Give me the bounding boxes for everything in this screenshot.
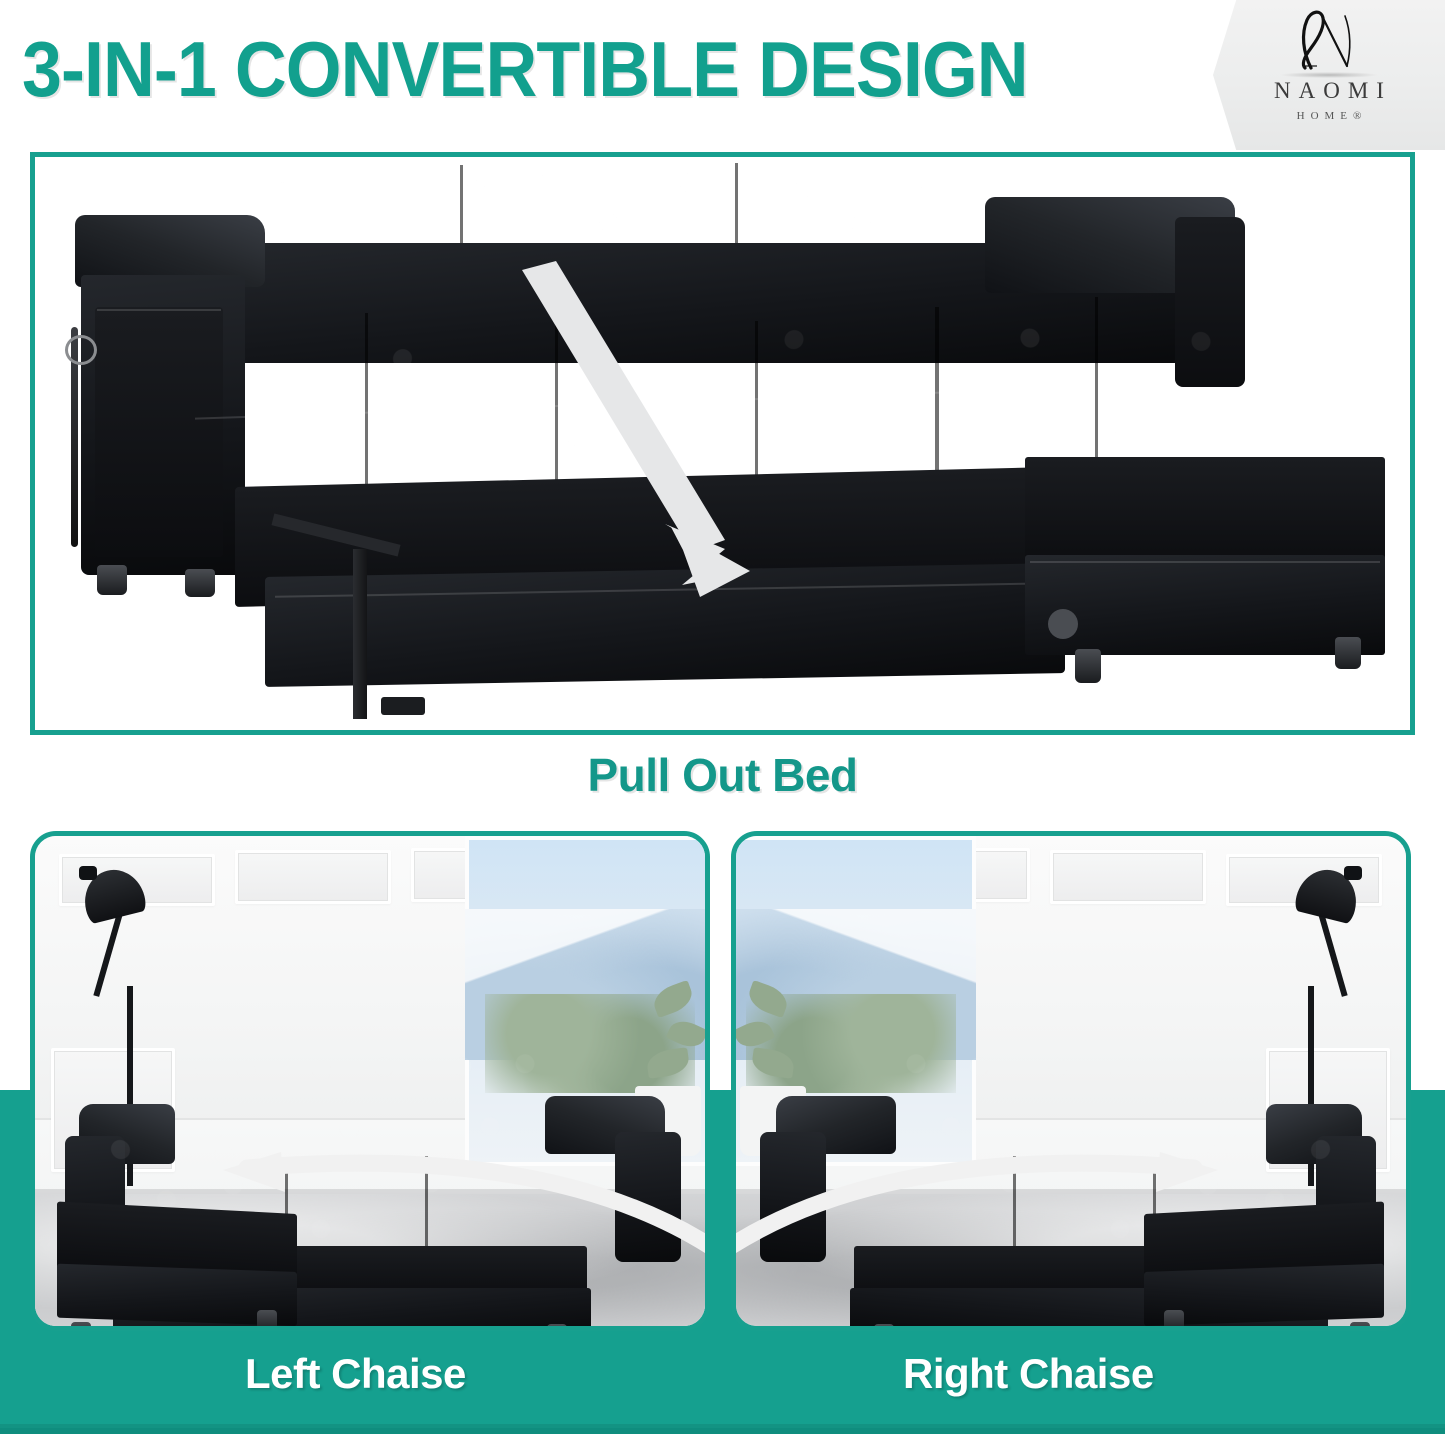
variant-panel-right-chaise[interactable] bbox=[731, 831, 1411, 1331]
chaise-swap-arrow bbox=[35, 836, 705, 1326]
variant-label-right-chaise: Right Chaise bbox=[903, 1350, 1154, 1398]
naomi-n-monogram-icon bbox=[1213, 6, 1445, 74]
brand-logo-badge: NAOMI HOME® bbox=[1213, 0, 1445, 150]
brand-subtitle: HOME® bbox=[1213, 110, 1445, 122]
page-title: 3-IN-1 CONVERTIBLE DESIGN bbox=[22, 24, 1028, 115]
variant-panel-left-chaise[interactable] bbox=[30, 831, 710, 1331]
hero-caption: Pull Out Bed bbox=[0, 748, 1445, 802]
room-scene-left-chaise bbox=[35, 836, 705, 1326]
room-scene-right-chaise bbox=[736, 836, 1406, 1326]
header-bar: 3-IN-1 CONVERTIBLE DESIGN NAOMI HOME® bbox=[0, 0, 1445, 152]
variant-label-left-chaise: Left Chaise bbox=[245, 1350, 466, 1398]
brand-name: NAOMI bbox=[1213, 78, 1445, 104]
chaise-swap-arrow bbox=[736, 836, 1406, 1326]
hero-image-frame bbox=[30, 152, 1415, 735]
pull-out-bed-photo bbox=[35, 157, 1410, 730]
